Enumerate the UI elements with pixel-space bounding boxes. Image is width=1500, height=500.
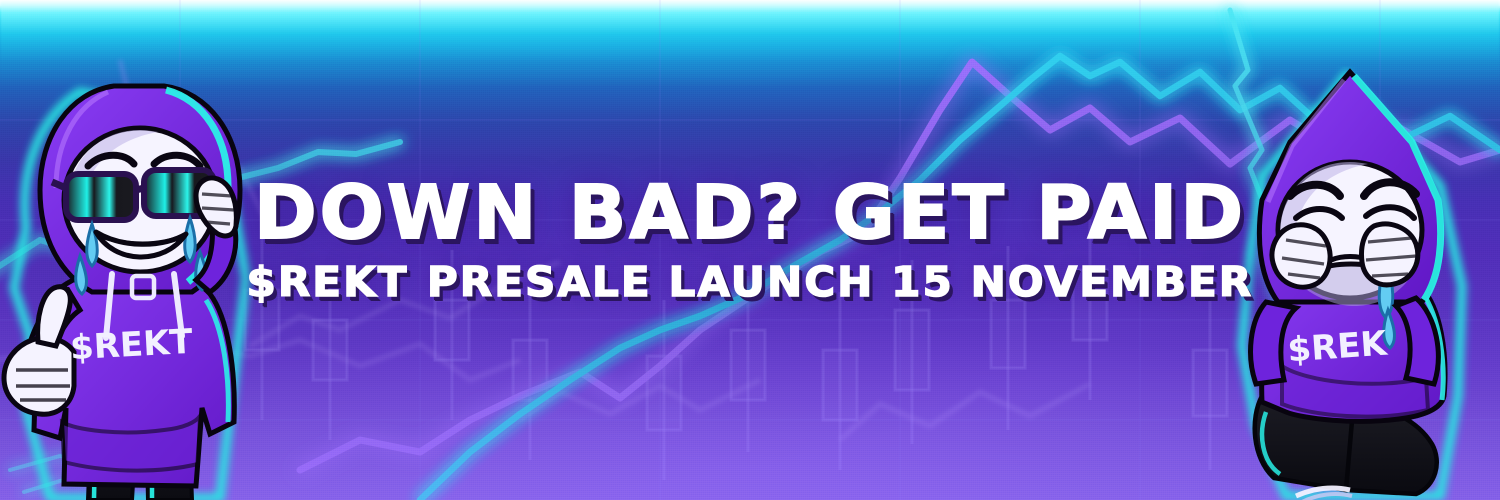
fist-left [4, 338, 74, 415]
sunglasses-left [52, 170, 214, 220]
mascot-right: $REK [1226, 66, 1476, 500]
fist-right-1 [1272, 225, 1330, 287]
promo-banner: $REKT [0, 0, 1500, 500]
hoodie-text-right: $REK [1286, 323, 1390, 370]
hoodie-text-left: $REKT [69, 322, 194, 368]
mascot-left: $REKT [0, 78, 274, 500]
